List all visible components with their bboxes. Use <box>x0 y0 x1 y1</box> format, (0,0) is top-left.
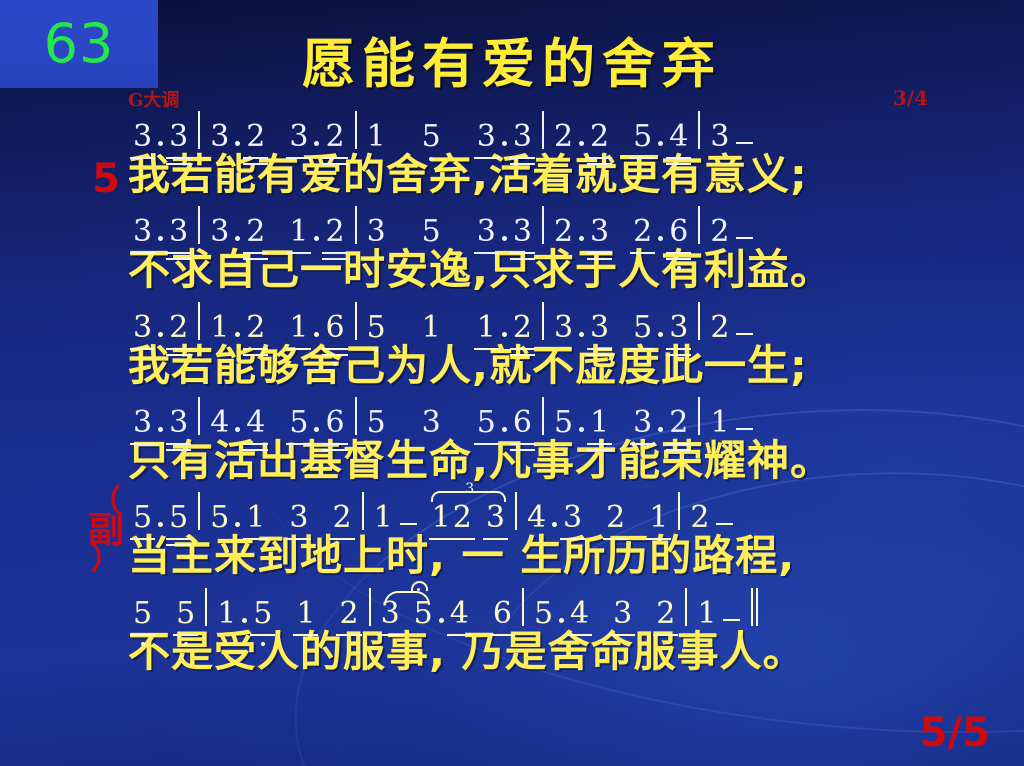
note: 1 <box>476 313 497 343</box>
note: 2 <box>709 217 730 247</box>
barline <box>369 588 371 626</box>
note: 3 <box>512 217 533 247</box>
note: 3 <box>668 313 689 343</box>
measure: 3 <box>709 122 755 152</box>
stanza-verse-line-4: 3 3 4 4 5 6 5 3 <box>0 390 1024 483</box>
note: 5 <box>421 217 442 247</box>
barline <box>542 206 544 244</box>
page-indicator: 5/5 <box>920 710 990 756</box>
measure: 3 2 <box>132 313 189 343</box>
measure: 4 3 2 1 <box>526 503 669 533</box>
measure: 5 1 3 2 <box>553 408 689 438</box>
note: 1 <box>366 122 387 152</box>
note: 3 <box>562 503 583 533</box>
note: 3 <box>288 503 309 533</box>
note: 2 <box>589 122 610 152</box>
augmentation-dot <box>658 141 663 146</box>
augmentation-dot <box>579 236 584 241</box>
measure: 4 4 5 6 <box>209 408 345 438</box>
barline <box>355 206 357 244</box>
note: 6 <box>668 217 689 247</box>
note: 3 <box>632 408 653 438</box>
sustain-dash <box>736 142 753 144</box>
note: 3 <box>168 408 189 438</box>
note: 2 <box>605 503 626 533</box>
note: 4 <box>209 408 230 438</box>
note: 2 <box>338 599 359 629</box>
barline <box>362 492 364 530</box>
note: 5 <box>632 313 653 343</box>
note: 3 <box>209 122 230 152</box>
note: 3 <box>512 122 533 152</box>
augmentation-dot <box>235 141 240 146</box>
measure: 5 3 5 6 <box>366 408 533 438</box>
note: 1 <box>431 503 452 533</box>
augmentation-dot <box>439 618 444 623</box>
augmentation-dot <box>559 618 564 623</box>
augmentation-dot <box>158 522 163 527</box>
barline <box>698 111 700 149</box>
augmentation-dot <box>235 236 240 241</box>
note: 4 <box>526 503 547 533</box>
note: 3 <box>132 122 153 152</box>
note: 3 <box>366 217 387 247</box>
sustain-dash <box>716 523 733 525</box>
note: 5 <box>632 122 653 152</box>
note: 1 <box>288 313 309 343</box>
hymn-slide: 63 愿能有爱的舍弃 G大调 3/4 5 3 3 3 2 3 <box>0 0 1024 766</box>
augmentation-dot <box>579 141 584 146</box>
barline <box>542 302 544 340</box>
chorus-marker: （ 副 ） <box>76 493 136 569</box>
note: 1 <box>696 599 717 629</box>
note: 3 <box>288 122 309 152</box>
note: 5 <box>168 503 189 533</box>
barline <box>685 588 687 626</box>
triplet-number: 3 <box>463 481 476 497</box>
measure: 1 3 1 2 3 <box>373 489 506 533</box>
barline <box>198 111 200 149</box>
augmentation-dot <box>158 427 163 432</box>
note: 5 <box>132 503 153 533</box>
note: 5 <box>366 313 387 343</box>
measure: 5 1 3 2 <box>209 503 352 533</box>
note: 5 <box>175 599 196 629</box>
barline <box>515 492 517 530</box>
measure: 3 5 4 6 <box>380 587 513 629</box>
note: 4 <box>668 122 689 152</box>
barline <box>205 588 207 626</box>
note: 4 <box>245 408 266 438</box>
note: 2 <box>324 122 345 152</box>
note: 6 <box>492 599 513 629</box>
augmentation-dot <box>314 141 319 146</box>
measure: 2 <box>689 503 735 533</box>
note: 2 <box>245 122 266 152</box>
note: 3 <box>485 503 506 533</box>
augmentation-dot <box>314 332 319 337</box>
note: 1 <box>421 313 442 343</box>
note: 2 <box>452 503 473 533</box>
note: 3 <box>612 599 633 629</box>
measure: 3 2 3 2 <box>209 122 345 152</box>
measure: 5 4 3 2 <box>533 599 676 629</box>
note: 3 <box>132 408 153 438</box>
augmentation-dot <box>158 332 163 337</box>
measure: 1 <box>696 588 755 629</box>
augmentation-dot <box>502 427 507 432</box>
note: 5 <box>252 599 273 629</box>
note: 2 <box>553 122 574 152</box>
notation-row-4: 3 3 4 4 5 6 5 3 <box>132 390 954 438</box>
measure: 3 3 <box>132 217 189 247</box>
barline <box>698 206 700 244</box>
note: 3 <box>589 313 610 343</box>
barline <box>678 492 680 530</box>
note: 1 <box>709 408 730 438</box>
note: 2 <box>331 503 352 533</box>
fermata-icon <box>411 581 428 591</box>
measure: 1 2 1 6 <box>209 313 345 343</box>
barline <box>198 397 200 435</box>
note: 6 <box>512 408 533 438</box>
note: 2 <box>709 313 730 343</box>
note: 1 <box>288 217 309 247</box>
measure: 3 5 3 3 <box>366 217 533 247</box>
notation-row-3: 3 2 1 2 1 6 5 1 <box>132 295 954 343</box>
augmentation-dot <box>658 236 663 241</box>
triplet-group: 3 1 2 3 <box>431 489 506 533</box>
note: 1 <box>373 503 394 533</box>
note: 2 <box>512 313 533 343</box>
chorus-paren-close: ） <box>76 551 136 569</box>
note: 1 <box>648 503 669 533</box>
note: 1 <box>295 599 316 629</box>
note: 5 <box>132 599 153 629</box>
note: 2 <box>168 313 189 343</box>
note: 3 <box>380 599 401 629</box>
barline <box>198 302 200 340</box>
measure: 5 1 1 2 <box>366 313 533 343</box>
measure: 3 2 1 2 <box>209 217 345 247</box>
augmentation-dot <box>314 236 319 241</box>
augmentation-dot <box>579 427 584 432</box>
barline <box>355 302 357 340</box>
note: 1 <box>216 599 237 629</box>
note: 3 <box>168 122 189 152</box>
augmentation-dot <box>242 618 247 623</box>
barline <box>542 397 544 435</box>
note: 2 <box>655 599 676 629</box>
note: 6 <box>324 313 345 343</box>
note: 3 <box>476 122 497 152</box>
measure: 5 5 <box>132 599 196 629</box>
stanza-chorus-line-2: 5 5 1 5 1 2 <box>0 581 1024 674</box>
note: 1 <box>209 313 230 343</box>
note: 1 <box>589 408 610 438</box>
measure: 1 5 1 2 <box>216 599 359 629</box>
notation-row-6: 5 5 1 5 1 2 <box>132 581 954 629</box>
augmentation-dot <box>235 332 240 337</box>
barline <box>198 206 200 244</box>
chorus-paren-open: （ <box>76 493 136 511</box>
sustain-dash <box>736 333 753 335</box>
note: 5 <box>209 503 230 533</box>
note: 2 <box>245 313 266 343</box>
sustain-dash <box>400 523 417 525</box>
note: 2 <box>668 408 689 438</box>
augmentation-dot <box>502 236 507 241</box>
note: 3 <box>476 217 497 247</box>
augmentation-dot <box>502 332 507 337</box>
note: 2 <box>245 217 266 247</box>
note: 5 <box>366 408 387 438</box>
notation-row-1: 3 3 3 2 3 2 1 5 <box>132 104 954 152</box>
barline <box>198 492 200 530</box>
augmentation-dot <box>158 141 163 146</box>
note: 3 <box>421 408 442 438</box>
measure: 2 <box>709 217 755 247</box>
note: 3 <box>209 217 230 247</box>
stanza-verse-line-2: 3 3 3 2 1 2 3 5 <box>0 199 1024 292</box>
note: 3 <box>132 217 153 247</box>
augmentation-dot <box>158 236 163 241</box>
measure: 5 5 <box>132 503 189 533</box>
note: 5 <box>553 408 574 438</box>
notation-row-2: 3 3 3 2 1 2 3 5 <box>132 199 954 247</box>
stanza-chorus-line-1: （ 副 ） 5 5 5 1 3 2 <box>0 485 1024 578</box>
note: 2 <box>632 217 653 247</box>
stanza-verse-line-1: 5 3 3 3 2 3 2 1 <box>0 104 1024 197</box>
note: 5 <box>533 599 554 629</box>
note: 2 <box>324 217 345 247</box>
final-barline <box>751 588 753 626</box>
augmentation-dot <box>579 332 584 337</box>
note: 4 <box>569 599 590 629</box>
barline <box>355 397 357 435</box>
notation-row-5: 5 5 5 1 3 2 1 <box>132 485 954 533</box>
augmentation-dot <box>235 522 240 527</box>
augmentation-dot <box>235 427 240 432</box>
note: 2 <box>553 217 574 247</box>
note: 4 <box>449 599 470 629</box>
measure: 2 <box>709 313 755 343</box>
note: 6 <box>324 408 345 438</box>
barline <box>355 111 357 149</box>
sustain-dash <box>736 237 753 239</box>
measure: 2 2 5 4 <box>553 122 689 152</box>
augmentation-dot <box>658 427 663 432</box>
note: 5 <box>288 408 309 438</box>
note: 3 <box>168 217 189 247</box>
barline <box>522 588 524 626</box>
measure: 1 5 3 3 <box>366 122 533 152</box>
note: 1 <box>245 503 266 533</box>
sustain-dash <box>723 619 740 621</box>
note: 3 <box>709 122 730 152</box>
measure: 3 3 5 3 <box>553 313 689 343</box>
measure: 1 <box>709 408 755 438</box>
note: 3 <box>132 313 153 343</box>
measure: 3 3 <box>132 408 189 438</box>
augmentation-dot <box>552 522 557 527</box>
note: 5 <box>476 408 497 438</box>
measure: 2 3 2 6 <box>553 217 689 247</box>
note: 5 <box>413 599 434 629</box>
barline <box>698 397 700 435</box>
note: 3 <box>553 313 574 343</box>
verse-marker: 5 <box>76 156 136 202</box>
slur-group: 3 5 <box>380 587 434 629</box>
note: 3 <box>589 217 610 247</box>
note: 5 <box>421 122 442 152</box>
note: 2 <box>689 503 710 533</box>
barline <box>698 302 700 340</box>
barline <box>542 111 544 149</box>
augmentation-dot <box>658 332 663 337</box>
measure: 3 3 <box>132 122 189 152</box>
music-body: 5 3 3 3 2 3 2 1 <box>0 104 1024 676</box>
augmentation-dot <box>314 427 319 432</box>
sustain-dash <box>736 428 753 430</box>
augmentation-dot <box>502 141 507 146</box>
stanza-verse-line-3: 3 2 1 2 1 6 5 1 <box>0 295 1024 388</box>
